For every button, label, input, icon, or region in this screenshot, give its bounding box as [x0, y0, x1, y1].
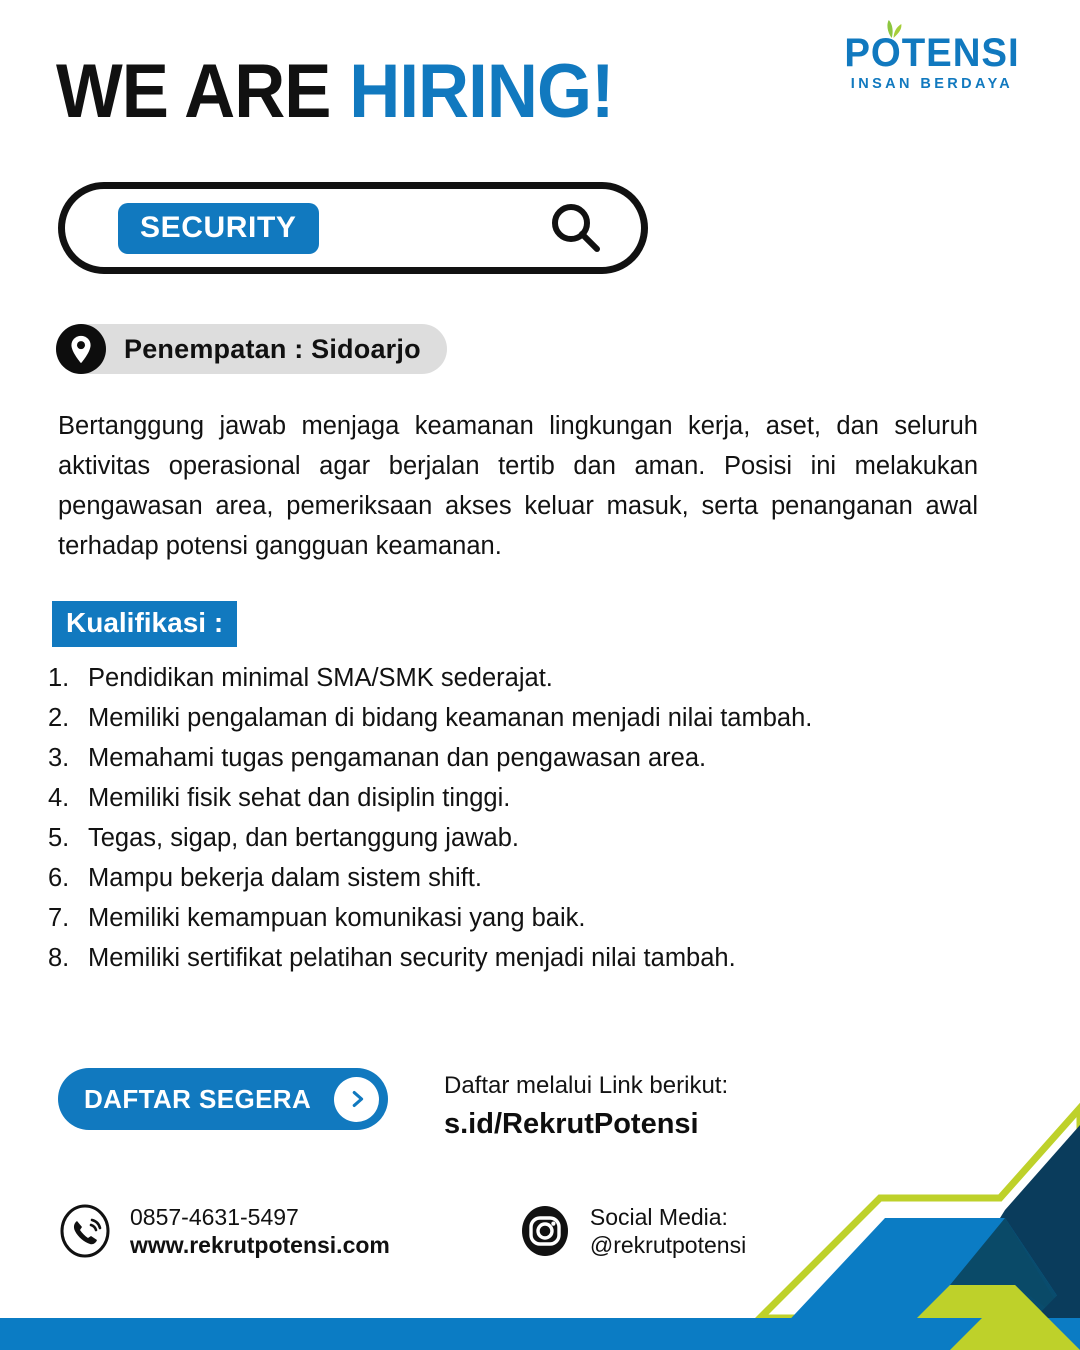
job-description: Bertanggung jawab menjaga keamanan lingk… [58, 406, 978, 566]
list-item-number: 2. [48, 698, 88, 738]
phone-icon [58, 1204, 112, 1258]
contact-social-text: Social Media: @rekrutpotensi [590, 1203, 746, 1259]
list-item: 2. Memiliki pengalaman di bidang keamana… [48, 698, 998, 738]
contact-social-group: Social Media: @rekrutpotensi [518, 1203, 746, 1259]
list-item-text: Memiliki fisik sehat dan disiplin tinggi… [88, 778, 998, 818]
list-item-text: Memiliki pengalaman di bidang keamanan m… [88, 698, 998, 738]
registration-link-url[interactable]: s.id/RekrutPotensi [444, 1105, 728, 1143]
placement-label: Penempatan : Sidoarjo [124, 334, 421, 365]
leaf-icon [876, 19, 909, 39]
list-item-text: Tegas, sigap, dan bertanggung jawab. [88, 818, 998, 858]
call-to-action: DAFTAR SEGERA Daftar melalui Link beriku… [58, 1068, 728, 1143]
location-pin-icon [56, 324, 106, 374]
social-media-label: Social Media: [590, 1203, 746, 1231]
registration-link-intro: Daftar melalui Link berikut: [444, 1069, 728, 1103]
list-item: 1. Pendidikan minimal SMA/SMK sederajat. [48, 658, 998, 698]
list-item: 8. Memiliki sertifikat pelatihan securit… [48, 938, 998, 978]
logo-wordmark: POTENSI [836, 32, 1028, 74]
instagram-icon[interactable] [518, 1204, 572, 1258]
list-item: 6. Mampu bekerja dalam sistem shift. [48, 858, 998, 898]
list-item-number: 1. [48, 658, 88, 698]
contact-phone-text: 0857-4631-5497 www.rekrutpotensi.com [130, 1203, 390, 1259]
placement-badge: Penempatan : Sidoarjo [56, 324, 447, 374]
list-item-number: 6. [48, 858, 88, 898]
bottom-accent-bar [0, 1318, 1080, 1350]
social-media-handle[interactable]: @rekrutpotensi [590, 1231, 746, 1259]
list-item-number: 3. [48, 738, 88, 778]
list-item-number: 7. [48, 898, 88, 938]
list-item: 7. Memiliki kemampuan komunikasi yang ba… [48, 898, 998, 938]
list-item-text: Memiliki sertifikat pelatihan security m… [88, 938, 998, 978]
qualifications-heading: Kualifikasi : [52, 601, 237, 647]
chevron-right-icon [334, 1077, 379, 1122]
company-logo: POTENSI INSAN BERDAYA [832, 32, 1032, 92]
logo-main-text: POTENSI [844, 31, 1019, 75]
search-icon[interactable] [549, 201, 603, 255]
list-item-number: 4. [48, 778, 88, 818]
list-item-text: Pendidikan minimal SMA/SMK sederajat. [88, 658, 998, 698]
contact-footer: 0857-4631-5497 www.rekrutpotensi.com Soc… [58, 1203, 746, 1259]
job-title-tag: SECURITY [118, 203, 319, 254]
job-title-search-bar[interactable]: SECURITY [58, 182, 648, 274]
contact-phone-group: 0857-4631-5497 www.rekrutpotensi.com [58, 1203, 390, 1259]
job-poster: WE ARE HIRING! POTENSI INSAN BERDAYA SEC… [0, 0, 1080, 1350]
list-item: 3. Memahami tugas pengamanan dan pengawa… [48, 738, 998, 778]
website-url[interactable]: www.rekrutpotensi.com [130, 1231, 390, 1259]
list-item-text: Memiliki kemampuan komunikasi yang baik. [88, 898, 998, 938]
phone-number: 0857-4631-5497 [130, 1203, 390, 1231]
registration-link-block: Daftar melalui Link berikut: s.id/Rekrut… [444, 1068, 728, 1143]
logo-tagline: INSAN BERDAYA [832, 76, 1032, 92]
list-item-text: Mampu bekerja dalam sistem shift. [88, 858, 998, 898]
poster-header: WE ARE HIRING! POTENSI INSAN BERDAYA [0, 0, 1080, 160]
list-item-number: 5. [48, 818, 88, 858]
list-item: 5. Tegas, sigap, dan bertanggung jawab. [48, 818, 998, 858]
decorative-corner-graphic [750, 1020, 1080, 1350]
headline-accent-part: HIRING! [349, 49, 613, 134]
apply-now-label: DAFTAR SEGERA [84, 1084, 311, 1115]
list-item: 4. Memiliki fisik sehat dan disiplin tin… [48, 778, 998, 818]
list-item-text: Memahami tugas pengamanan dan pengawasan… [88, 738, 998, 778]
headline-dark-part: WE ARE [56, 49, 331, 134]
page-title: WE ARE HIRING! [56, 52, 614, 132]
apply-now-button[interactable]: DAFTAR SEGERA [58, 1068, 388, 1130]
qualifications-list: 1. Pendidikan minimal SMA/SMK sederajat.… [48, 658, 998, 978]
list-item-number: 8. [48, 938, 88, 978]
